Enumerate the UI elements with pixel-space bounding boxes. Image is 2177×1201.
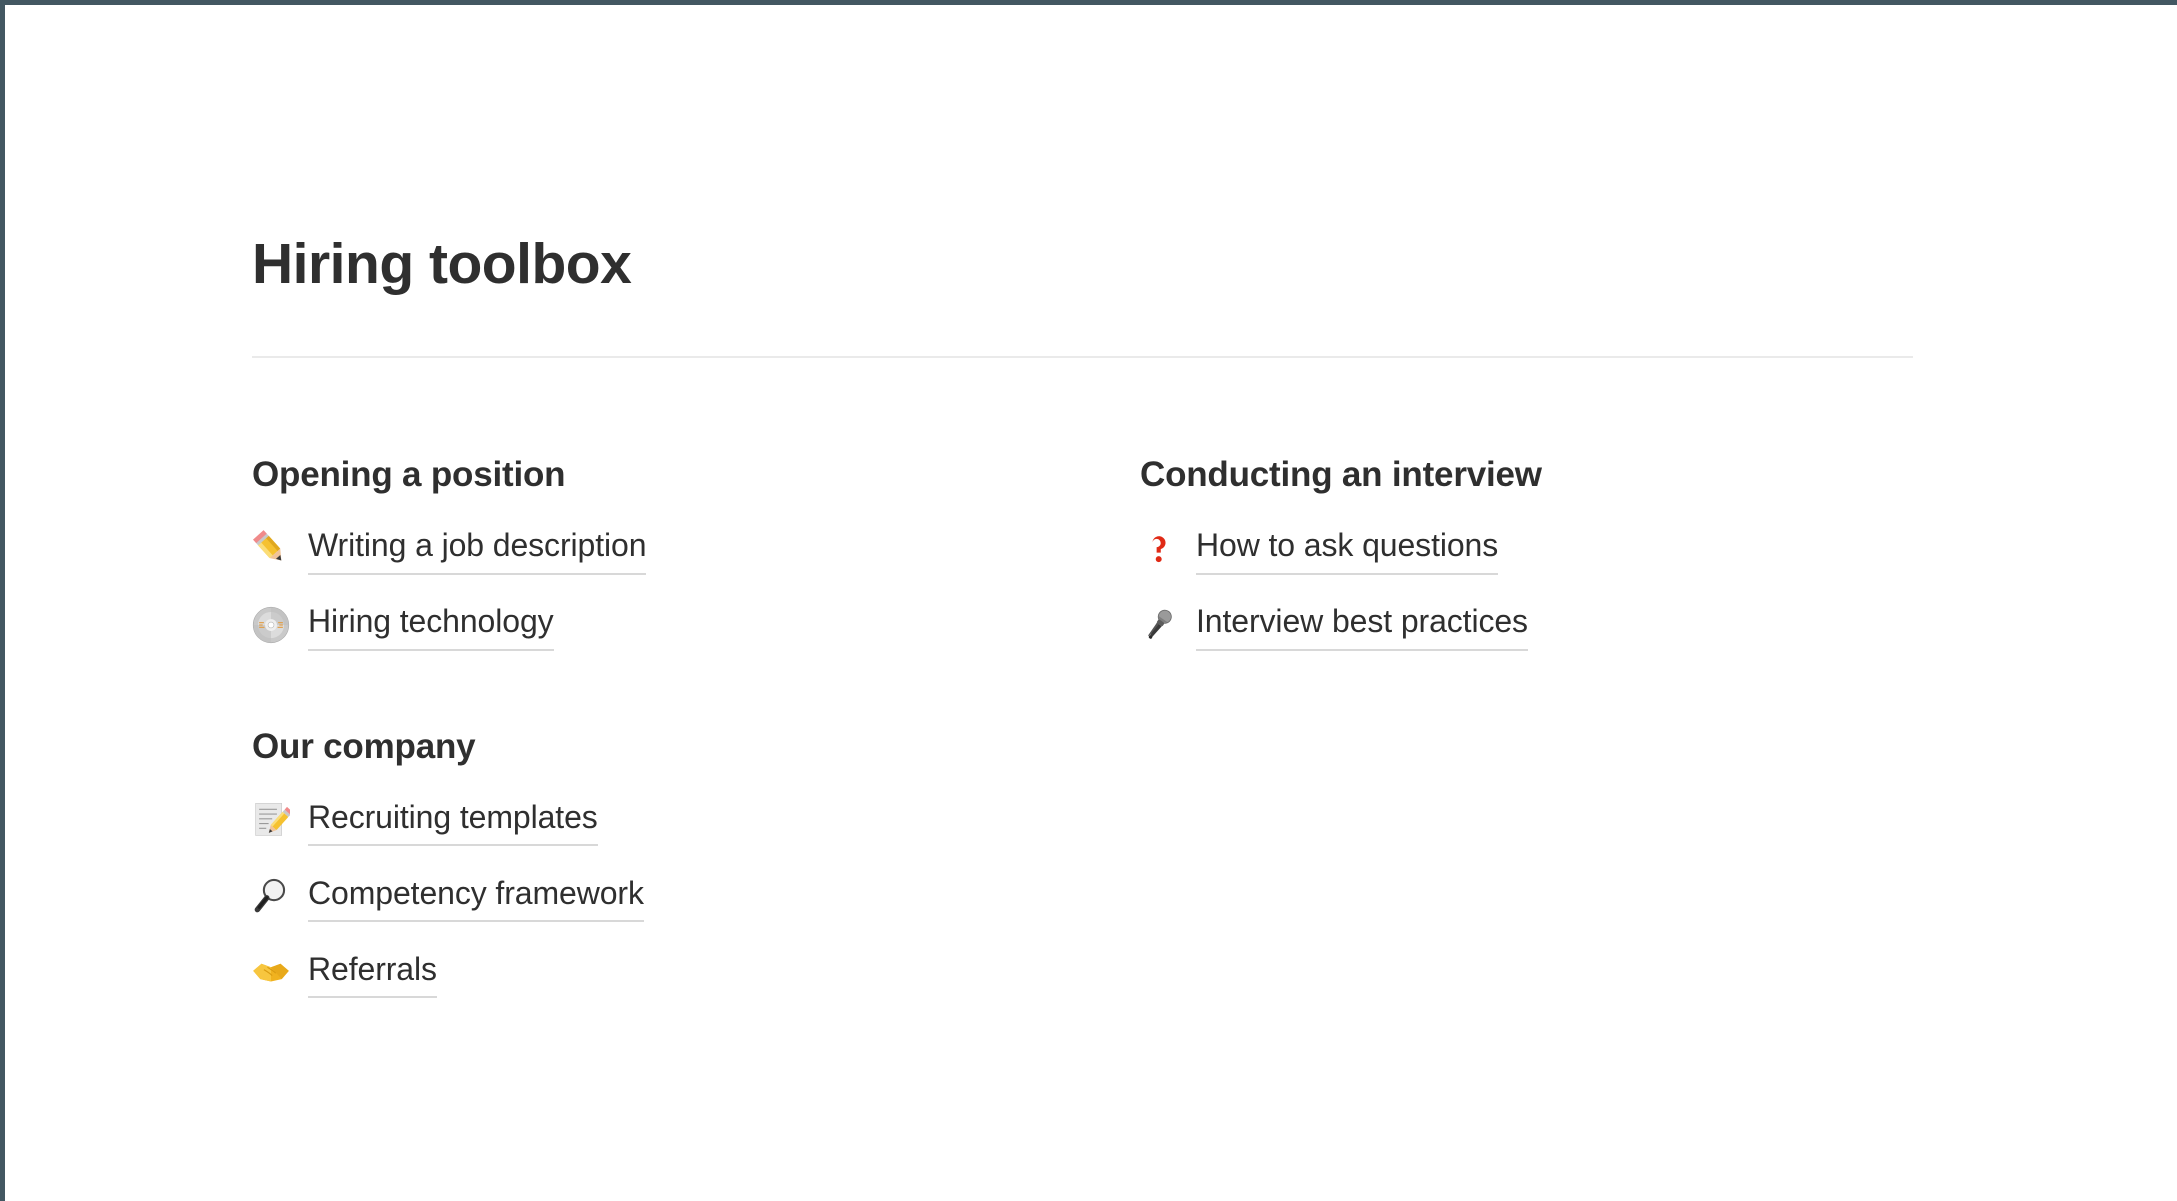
red-question-mark-icon [1140, 532, 1196, 568]
list-item[interactable]: Recruiting templates [252, 783, 1072, 859]
faint-toolbar-ghost [28, 50, 328, 76]
list-item[interactable]: Hiring technology [252, 588, 1072, 664]
link-list: Writing a job description [252, 512, 1072, 664]
document-page: Hiring toolbox Opening a position [0, 0, 2177, 1201]
window-edge-top [0, 0, 2177, 5]
link-list: Recruiting templates Competency framewor… [252, 783, 1072, 1011]
link-label[interactable]: Writing a job description [308, 524, 646, 574]
list-item[interactable]: Referrals [252, 935, 1072, 1011]
link-label[interactable]: Recruiting templates [308, 796, 598, 846]
right-column: Conducting an interview How to ask quest… [1140, 452, 2040, 664]
group-conducting-an-interview: Conducting an interview How to ask quest… [1140, 452, 2040, 664]
group-our-company: Our company [252, 724, 1072, 1012]
magnifying-glass-icon [252, 879, 308, 915]
link-label[interactable]: Hiring technology [308, 600, 554, 650]
list-item[interactable]: Interview best practices [1140, 588, 2040, 664]
memo-icon [252, 803, 308, 839]
link-label[interactable]: How to ask questions [1196, 524, 1498, 574]
optical-disk-icon [252, 608, 308, 644]
section-heading: Conducting an interview [1140, 452, 2040, 498]
microphone-icon [1140, 608, 1196, 644]
title-divider [252, 356, 1913, 358]
pencil-icon [252, 532, 308, 568]
content-columns: Opening a position [0, 452, 2177, 1052]
left-column: Opening a position [252, 452, 1072, 1011]
handshake-icon [252, 955, 308, 991]
page-title: Hiring toolbox [252, 232, 631, 298]
section-heading: Our company [252, 724, 1072, 770]
link-list: How to ask questions [1140, 512, 2040, 664]
list-item[interactable]: Competency framework [252, 859, 1072, 935]
section-heading: Opening a position [252, 452, 1072, 498]
group-opening-a-position: Opening a position [252, 452, 1072, 664]
list-item[interactable]: Writing a job description [252, 512, 1072, 588]
link-label[interactable]: Competency framework [308, 872, 644, 922]
list-item[interactable]: How to ask questions [1140, 512, 2040, 588]
link-label[interactable]: Interview best practices [1196, 600, 1528, 650]
link-label[interactable]: Referrals [308, 948, 437, 998]
